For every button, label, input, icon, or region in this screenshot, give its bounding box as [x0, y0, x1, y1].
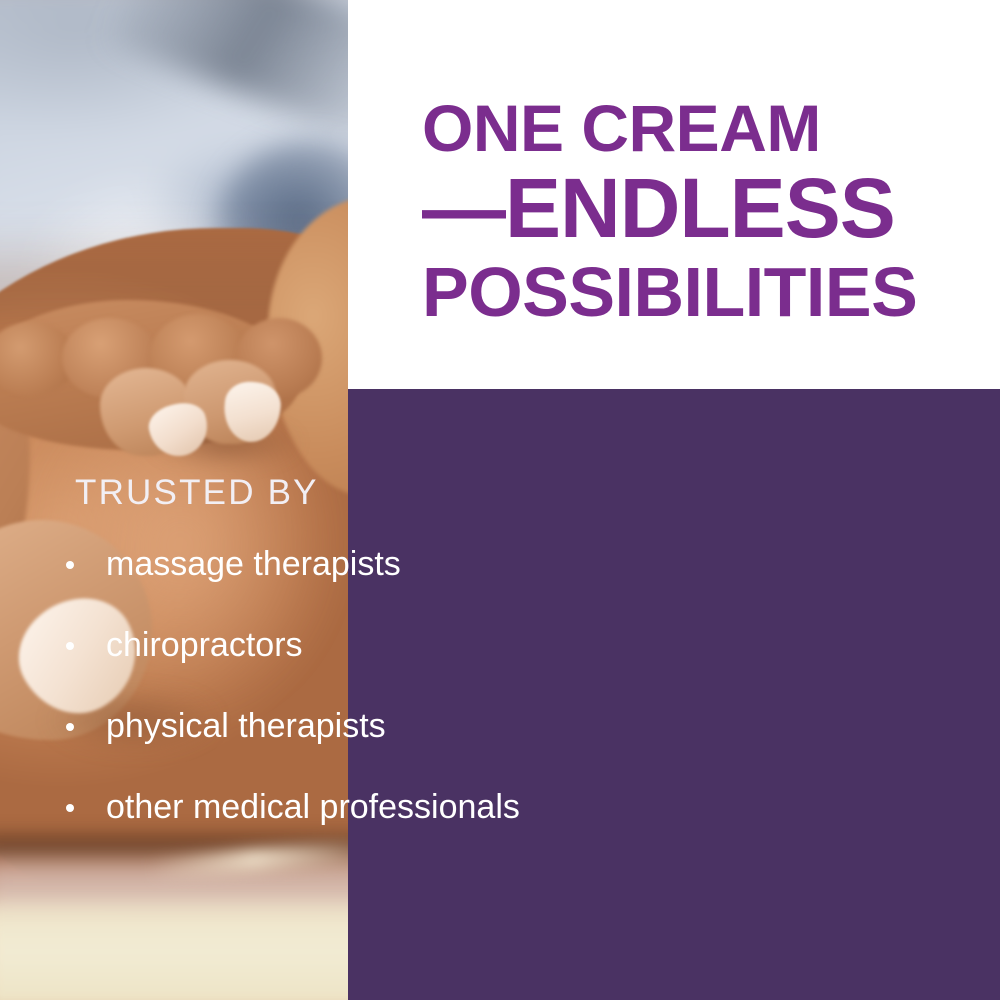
headline-block: ONE CREAM —ENDLESS POSSIBILITIES [348, 0, 1000, 389]
list-item: massage therapists [66, 547, 626, 628]
list-item: physical therapists [66, 709, 626, 790]
list-item: chiropractors [66, 628, 626, 709]
massage-table-surface [0, 906, 348, 1000]
bullet-icon [66, 561, 74, 569]
headline-line-two: —ENDLESS [422, 166, 895, 250]
headline-line-one: ONE CREAM [422, 95, 821, 161]
list-item-label: chiropractors [106, 628, 303, 662]
list-item-label: other medical professionals [106, 790, 520, 824]
product-marketing-poster: ONE CREAM —ENDLESS POSSIBILITIES TRUSTED… [0, 0, 1000, 1000]
list-item: other medical professionals [66, 790, 626, 871]
headline-line-three: POSSIBILITIES [422, 257, 917, 327]
list-item-label: physical therapists [106, 709, 386, 743]
bullet-icon [66, 804, 74, 812]
bullet-icon [66, 642, 74, 650]
bullet-icon [66, 723, 74, 731]
trusted-by-heading: TRUSTED BY [75, 473, 319, 513]
trusted-by-list: massage therapists chiropractors physica… [66, 547, 626, 871]
list-item-label: massage therapists [106, 547, 401, 581]
